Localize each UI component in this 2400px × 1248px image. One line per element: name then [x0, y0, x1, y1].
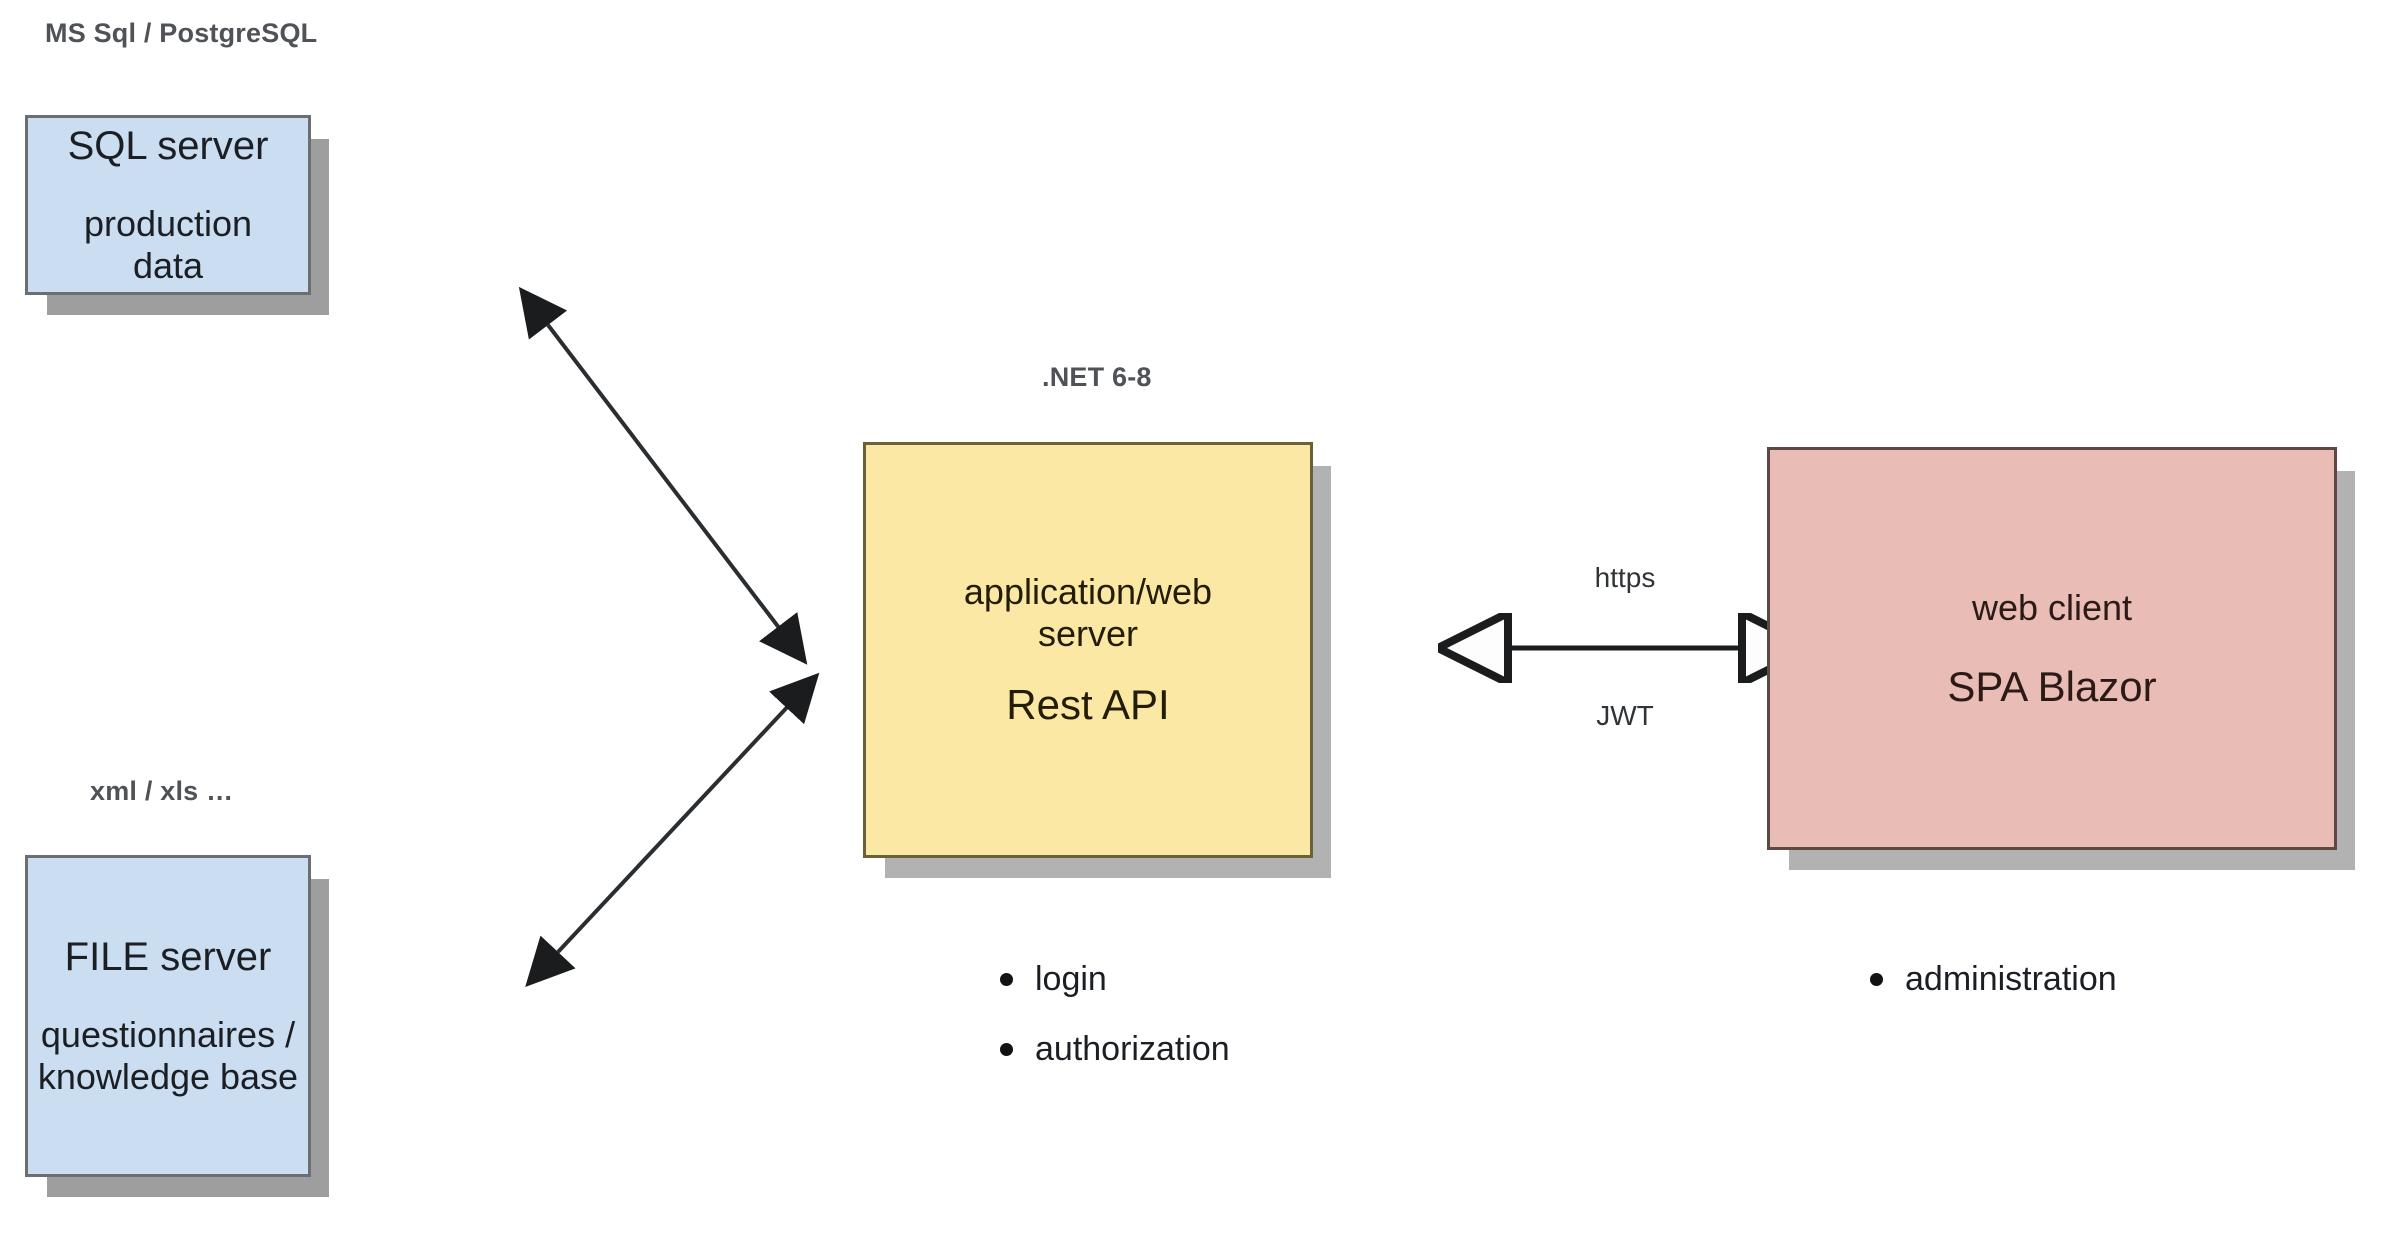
list-item: login — [1000, 962, 1230, 996]
web-client-line1: web client — [1972, 587, 2132, 629]
file-server-caption: xml / xls … — [90, 776, 233, 807]
node-sql-server[interactable]: SQL server production data — [25, 115, 311, 295]
file-server-line2: questionnaires / — [41, 1014, 295, 1056]
bullet-icon — [1000, 1043, 1013, 1056]
edge-label-https: https — [1508, 562, 1742, 594]
list-item: administration — [1870, 962, 2117, 996]
sql-server-caption: MS Sql / PostgreSQL — [45, 18, 317, 49]
file-server-title: FILE server — [65, 935, 272, 980]
node-file-server[interactable]: FILE server questionnaires / knowledge b… — [25, 855, 311, 1177]
node-app-server[interactable]: application/web server Rest API — [863, 442, 1313, 858]
diagram-canvas: MS Sql / PostgreSQL SQL server productio… — [0, 0, 2400, 1248]
client-feature-list: administration — [1870, 962, 2117, 1032]
bullet-icon — [1000, 973, 1013, 986]
sql-server-title: SQL server — [68, 124, 269, 169]
file-server-line3: knowledge base — [38, 1056, 298, 1098]
edge-sql-to-app — [548, 325, 783, 633]
edge-label-jwt: JWT — [1508, 700, 1742, 732]
edge-file-to-app — [558, 702, 792, 952]
bullet-icon — [1870, 973, 1883, 986]
app-server-line2: server — [1038, 613, 1138, 655]
web-client-line2: SPA Blazor — [1947, 663, 2156, 711]
sql-server-line3: data — [133, 245, 203, 287]
app-server-line3: Rest API — [1006, 681, 1169, 729]
server-feature-list: login authorization — [1000, 962, 1230, 1102]
list-item: authorization — [1000, 1032, 1230, 1066]
client-feature-label: administration — [1905, 962, 2117, 996]
node-web-client[interactable]: web client SPA Blazor — [1767, 447, 2337, 850]
server-feature-label: login — [1035, 962, 1107, 996]
app-server-line1: application/web — [964, 571, 1212, 613]
server-feature-label: authorization — [1035, 1032, 1230, 1066]
sql-server-line2: production — [84, 203, 252, 245]
app-server-caption: .NET 6-8 — [1042, 362, 1152, 393]
